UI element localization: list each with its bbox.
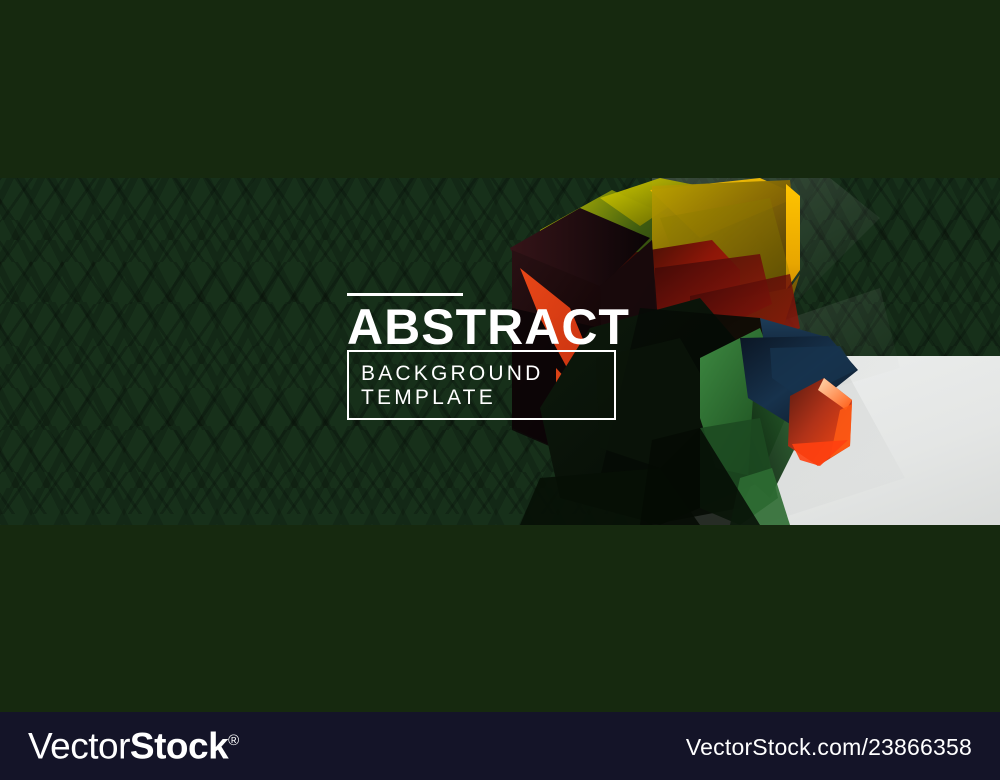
source-url: VectorStock.com/23866358: [686, 733, 972, 761]
subtitle-lines: BACKGROUND TEMPLATE: [361, 362, 544, 410]
page-title: ABSTRACT: [347, 302, 627, 352]
vectorstock-logo: VectorStock®: [28, 718, 239, 769]
registered-trademark-icon: ®: [228, 732, 239, 749]
screenshot-root: ABSTRACT BACKGROUND TEMPLATE VectorStock…: [0, 0, 1000, 780]
logo-text-thin: Vector: [28, 725, 130, 766]
banner-text-block: ABSTRACT BACKGROUND TEMPLATE: [347, 293, 627, 352]
subtitle-box: BACKGROUND TEMPLATE: [347, 350, 616, 420]
subtitle-line-1: BACKGROUND: [361, 362, 544, 386]
subtitle-line-2: TEMPLATE: [361, 386, 544, 410]
title-rule: [347, 293, 463, 296]
logo-text-bold: Stock: [130, 725, 228, 766]
